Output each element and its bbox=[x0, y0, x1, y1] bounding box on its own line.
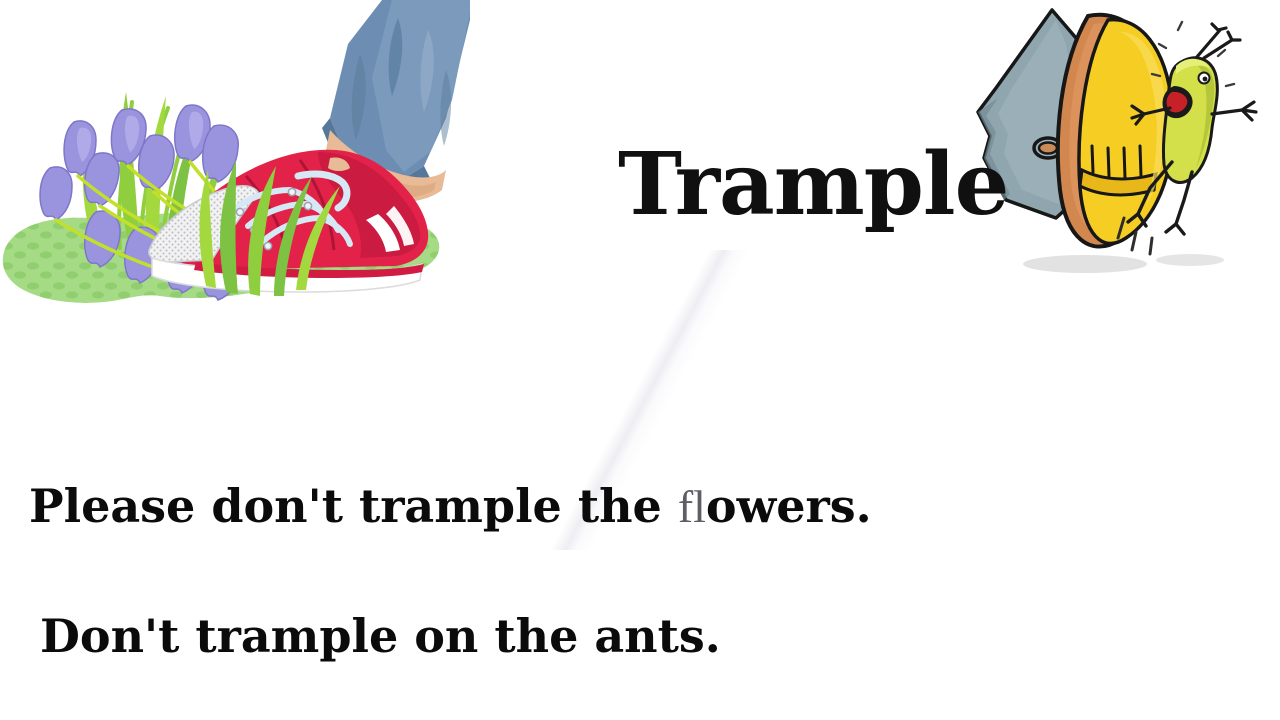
bug-shadow bbox=[1156, 254, 1224, 266]
boot-sole-yellow bbox=[1079, 20, 1173, 244]
fl-ligature-glyph: fl bbox=[678, 481, 706, 532]
sentence-ants: Don't trample on the ants. bbox=[40, 611, 721, 662]
sentence-flowers-part-1: Please don't trample the bbox=[29, 479, 678, 533]
slide-canvas: Trample Please don't trample the flowers… bbox=[0, 0, 1280, 720]
sentence-ants-text: Don't trample on the ants. bbox=[40, 609, 721, 663]
sentence-flowers-part-2: owers. bbox=[706, 479, 872, 533]
sentence-flowers: Please don't trample the flowers. bbox=[29, 481, 872, 533]
bug-antennae bbox=[1196, 24, 1240, 58]
boot-shadow bbox=[1023, 255, 1147, 273]
page-title: Trample bbox=[618, 140, 1008, 230]
sneaker-trampling-flowers-illustration bbox=[0, 0, 470, 320]
